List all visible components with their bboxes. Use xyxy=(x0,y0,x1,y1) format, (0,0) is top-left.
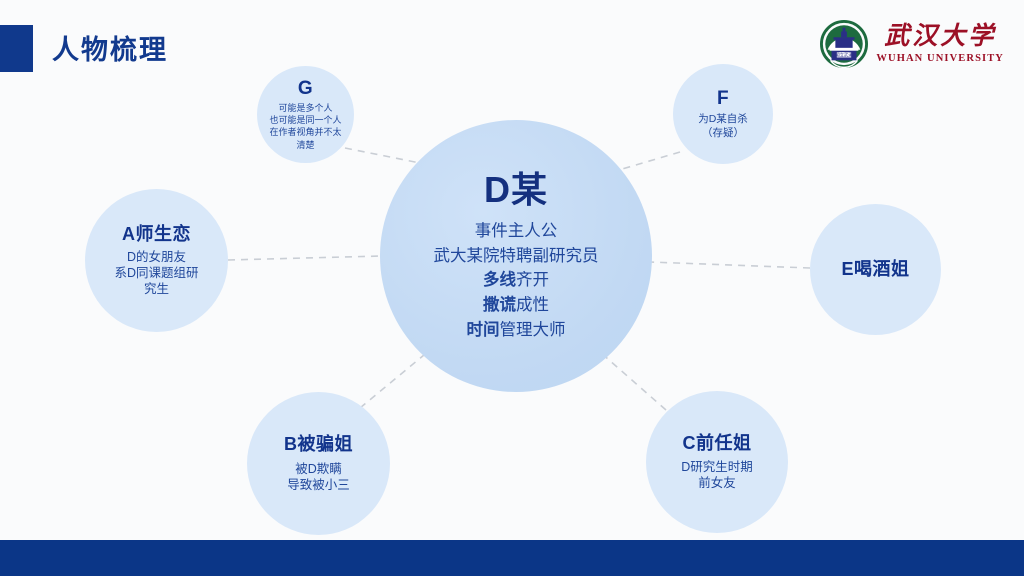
node-g[interactable]: G 可能是多个人也可能是同一个人在作者视角并不太清楚 xyxy=(257,66,354,163)
node-a[interactable]: A师生恋 D的女朋友系D同课题组研究生 xyxy=(85,189,228,332)
connector-b-d xyxy=(360,350,430,408)
node-desc-line: 系D同课题组研 xyxy=(114,265,198,281)
node-desc-line: 时间管理大师 xyxy=(434,318,599,343)
node-desc-line: D的女朋友 xyxy=(114,249,198,265)
node-c-title: C前任姐 xyxy=(683,433,752,454)
connector-a-d xyxy=(228,256,382,260)
node-desc-line: 在作者视角并不太 xyxy=(269,126,341,138)
connector-g-d xyxy=(345,148,425,164)
node-desc-line: 也可能是同一个人 xyxy=(269,114,341,126)
slide-canvas: 人物梳理 國立武漢 武汉大学 WUHAN UNIVERSITY xyxy=(0,0,1024,576)
connector-e-d xyxy=(650,262,810,268)
node-b-title: B被骗姐 xyxy=(284,434,353,455)
node-desc-line: 武大某院特聘副研究员 xyxy=(434,244,599,269)
node-desc-line: 事件主人公 xyxy=(434,219,599,244)
node-desc-line: 究生 xyxy=(114,281,198,297)
node-b-desc: 被D欺瞒导致被小三 xyxy=(287,461,350,493)
node-e-title: E喝酒姐 xyxy=(841,259,909,280)
node-f-title: F xyxy=(717,88,729,110)
node-desc-line: 清楚 xyxy=(269,139,341,151)
footer-bar xyxy=(0,540,1024,576)
node-c-desc: D研究生时期前女友 xyxy=(681,459,753,491)
node-e[interactable]: E喝酒姐 xyxy=(810,204,941,335)
node-b[interactable]: B被骗姐 被D欺瞒导致被小三 xyxy=(247,392,390,535)
node-desc-line: 撒谎成性 xyxy=(434,293,599,318)
node-desc-line: 导致被小三 xyxy=(287,477,350,493)
node-f-desc: 为D某自杀（存疑） xyxy=(698,113,748,140)
node-desc-line: （存疑） xyxy=(698,127,748,140)
node-desc-line: D研究生时期 xyxy=(681,459,753,475)
node-g-title: G xyxy=(298,78,313,100)
node-desc-line: 前女友 xyxy=(681,475,753,491)
node-desc-line: 为D某自杀 xyxy=(698,113,748,126)
node-d[interactable]: D某 事件主人公武大某院特聘副研究员多线齐开撒谎成性时间管理大师 xyxy=(380,120,652,392)
node-desc-line: 可能是多个人 xyxy=(269,102,341,114)
node-desc-line: 多线齐开 xyxy=(434,268,599,293)
node-g-desc: 可能是多个人也可能是同一个人在作者视角并不太清楚 xyxy=(269,102,341,151)
node-a-title: A师生恋 xyxy=(122,224,191,245)
node-c[interactable]: C前任姐 D研究生时期前女友 xyxy=(646,391,788,533)
node-desc-line: 被D欺瞒 xyxy=(287,461,350,477)
node-d-title: D某 xyxy=(484,169,548,210)
connector-c-d xyxy=(600,352,666,410)
node-a-desc: D的女朋友系D同课题组研究生 xyxy=(114,249,198,297)
node-d-desc: 事件主人公武大某院特聘副研究员多线齐开撒谎成性时间管理大师 xyxy=(434,219,599,343)
connector-f-d xyxy=(612,152,680,172)
node-f[interactable]: F 为D某自杀（存疑） xyxy=(673,64,773,164)
